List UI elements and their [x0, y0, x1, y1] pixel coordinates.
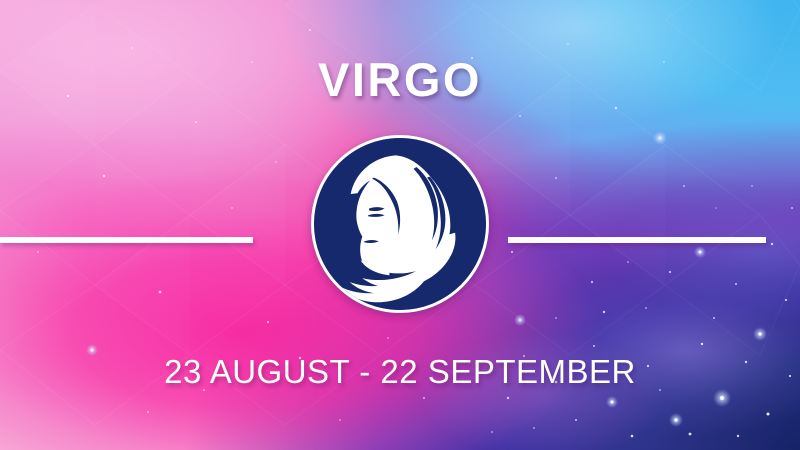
zodiac-banner: VIRGO [0, 0, 800, 450]
page-title: VIRGO [0, 56, 800, 103]
virgo-emblem [311, 135, 489, 313]
right-divider-rule [508, 237, 766, 243]
left-divider-rule [0, 237, 253, 243]
virgo-maiden-profile-icon [314, 138, 486, 310]
date-range-label: 23 AUGUST - 22 SEPTEMBER [0, 355, 800, 388]
